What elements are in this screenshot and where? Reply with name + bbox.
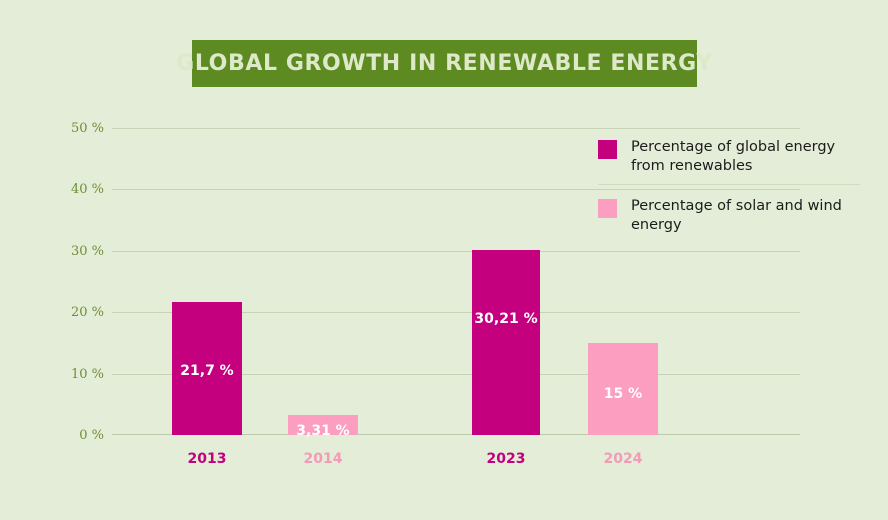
legend-label-solar-wind: Percentage of solar and wind energy [631,197,860,235]
page-title: GLOBAL GROWTH IN RENEWABLE ENERGY [176,53,713,75]
bar-value-2014: 3,31 % [288,424,358,438]
chart-container: GLOBAL GROWTH IN RENEWABLE ENERGY 50 % 4… [0,0,888,520]
y-tick-20: 20 % [48,306,104,319]
gridline-50 [112,128,800,129]
legend-item-renewables[interactable]: Percentage of global energy from renewab… [598,134,860,184]
x-tick-label-2023: 2023 [472,452,540,466]
y-tick-50: 50 % [48,122,104,135]
y-tick-40: 40 % [48,183,104,196]
bar-2013[interactable]: 21,7 % [172,302,242,435]
y-tick-30: 30 % [48,245,104,258]
x-axis: 2013 2014 2023 2024 [112,452,800,476]
chart-title-banner: GLOBAL GROWTH IN RENEWABLE ENERGY [192,40,697,87]
x-tick-label-2013: 2013 [172,452,242,466]
y-axis: 50 % 40 % 30 % 20 % 10 % 0 % [40,128,104,435]
x-tick-label-2024: 2024 [588,452,658,466]
bar-value-2024: 15 % [588,387,658,401]
y-tick-0: 0 % [48,429,104,442]
bar-value-2013: 21,7 % [172,364,242,378]
legend-swatch-renewables-icon [598,140,617,159]
y-tick-10: 10 % [48,368,104,381]
legend-label-renewables: Percentage of global energy from renewab… [631,138,860,176]
gridline-30 [112,251,800,252]
x-tick-label-2014: 2014 [288,452,358,466]
chart-legend: Percentage of global energy from renewab… [598,134,860,244]
bar-2023[interactable]: 30,21 % [472,250,540,436]
legend-item-solar-wind[interactable]: Percentage of solar and wind energy [598,184,860,243]
bar-2024[interactable]: 15 % [588,343,658,435]
bar-2014[interactable]: 3,31 % [288,415,358,435]
bar-value-2023: 30,21 % [472,312,540,326]
legend-swatch-solar-wind-icon [598,199,617,218]
